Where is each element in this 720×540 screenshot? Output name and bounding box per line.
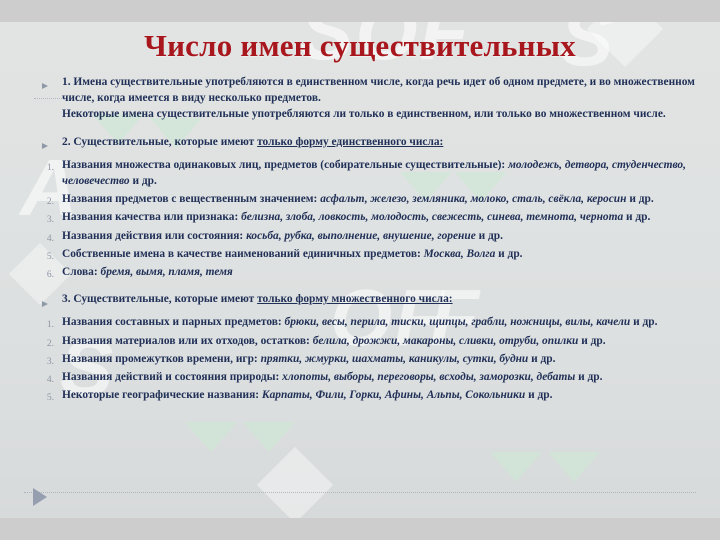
list-number-label: 5.: [47, 252, 54, 262]
item-tail: и др.: [525, 389, 552, 401]
list-item: 4. Названия действия или состояния: кось…: [0, 228, 720, 244]
item-examples: прятки, жмурки, шахматы, каникулы, сутки…: [261, 353, 529, 365]
list-number-label: 4.: [47, 375, 54, 385]
item-tail: и др.: [630, 316, 657, 328]
list-number-label: 4.: [47, 234, 54, 244]
item-examples: косьба, рубка, выполнение, внушение, гор…: [246, 230, 476, 242]
item-text: Названия действия или состояния:: [62, 230, 246, 242]
item-text: Названия предметов с вещественным значен…: [62, 193, 320, 205]
item-examples: бремя, вымя, пламя, темя: [101, 266, 233, 278]
item-text: Названия множества одинаковых лиц, предм…: [62, 159, 508, 171]
list-item: 3. Названия промежутков времени, игр: пр…: [0, 351, 720, 367]
item-text: Названия промежутков времени, игр:: [62, 353, 261, 365]
paragraph-line: 1. Имена существительные употребляются в…: [62, 76, 695, 104]
item-tail: и др.: [495, 248, 522, 260]
item-text: Названия действий и состояния природы:: [62, 371, 282, 383]
item-examples: асфальт, железо, земляника, молоко, стал…: [320, 193, 626, 205]
list-number-label: 1.: [47, 320, 54, 330]
list-item: 4. Названия действий и состояния природы…: [0, 369, 720, 385]
section-heading-plural: 3. Существительные, которые имеют только…: [0, 291, 720, 307]
bullet-arrow-icon: [6, 74, 48, 92]
item-tail: и др.: [623, 211, 650, 223]
list-number: 2.: [22, 333, 54, 351]
content-body: 1. Имена существительные употребляются в…: [0, 74, 720, 405]
list-item: 2. Названия материалов или их отходов, о…: [0, 333, 720, 349]
item-text: Собственные имена в качестве наименовани…: [62, 248, 424, 260]
section-heading-singular: 2. Существительные, которые имеют только…: [0, 134, 720, 150]
watermark-chevron: [243, 422, 295, 452]
item-tail: и др.: [626, 193, 653, 205]
list-number-label: 6.: [47, 270, 54, 280]
list-number-label: 2.: [47, 339, 54, 349]
bullet-arrow-icon: [6, 291, 48, 309]
list-number: 3.: [22, 351, 54, 369]
item-text: Названия материалов или их отходов, оста…: [62, 335, 313, 347]
list-number-label: 3.: [47, 215, 54, 225]
list-number-label: 1.: [47, 163, 54, 173]
list-number: 4.: [22, 228, 54, 246]
item-tail: и др.: [130, 175, 157, 187]
watermark-chevron: [185, 422, 237, 452]
divider-bottom: [24, 492, 696, 493]
heading-prefix: 3. Существительные, которые имеют: [62, 293, 257, 305]
next-slide-arrow-icon[interactable]: [33, 488, 47, 506]
heading-prefix: 2. Существительные, которые имеют: [62, 136, 257, 148]
list-number: 4.: [22, 369, 54, 387]
watermark-chevron: [548, 452, 600, 482]
paragraph-line: Некоторые имена существительные употребл…: [62, 108, 666, 120]
list-number: 2.: [22, 191, 54, 209]
list-number-label: 3.: [47, 357, 54, 367]
list-number-label: 2.: [47, 197, 54, 207]
item-examples: хлопоты, выборы, переговоры, всходы, зам…: [282, 371, 575, 383]
page-title: Число имен существительных: [0, 28, 720, 64]
list-number: 3.: [22, 209, 54, 227]
item-examples: брюки, весы, перила, тиски, щипцы, грабл…: [285, 316, 631, 328]
list-number-label: 5.: [47, 393, 54, 403]
list-item: 5. Собственные имена в качестве наименов…: [0, 246, 720, 262]
list-item: 5. Некоторые географические названия: Ка…: [0, 387, 720, 403]
list-number: 6.: [22, 264, 54, 282]
item-tail: и др.: [575, 371, 602, 383]
item-tail: и др.: [528, 353, 555, 365]
item-text: Названия составных и парных предметов:: [62, 316, 285, 328]
list-number: 1.: [22, 157, 54, 175]
item-tail: и др.: [476, 230, 503, 242]
list-item: 3. Названия качества или признака: белиз…: [0, 209, 720, 225]
item-text: Некоторые географические названия:: [62, 389, 262, 401]
item-text: Слова:: [62, 266, 101, 278]
watermark-square: [257, 447, 333, 518]
list-item: 1. Названия составных и парных предметов…: [0, 314, 720, 330]
item-examples: белизна, злоба, ловкость, молодость, све…: [241, 211, 623, 223]
watermark-chevron: [490, 452, 542, 482]
list-number: 1.: [22, 314, 54, 332]
slide-canvas: SOF S A OF F S Число имен существительны…: [0, 22, 720, 518]
item-examples: Москва, Волга: [424, 248, 496, 260]
list-item: 2. Названия предметов с вещественным зна…: [0, 191, 720, 207]
item-text: Названия качества или признака:: [62, 211, 241, 223]
bullet-arrow-icon: [6, 134, 48, 152]
list-item: 1. Названия множества одинаковых лиц, пр…: [0, 157, 720, 189]
heading-underlined: только форму единственного числа:: [257, 136, 443, 148]
item-examples: белила, дрожжи, макароны, сливки, отруби…: [313, 335, 579, 347]
list-item: 6. Слова: бремя, вымя, пламя, темя: [0, 264, 720, 280]
item-examples: Карпаты, Фили, Горки, Афины, Альпы, Соко…: [262, 389, 525, 401]
heading-underlined: только форму множественного числа:: [257, 293, 452, 305]
list-number: 5.: [22, 246, 54, 264]
item-tail: и др.: [578, 335, 605, 347]
list-item: 1. Имена существительные употребляются в…: [0, 74, 720, 123]
list-number: 5.: [22, 387, 54, 405]
